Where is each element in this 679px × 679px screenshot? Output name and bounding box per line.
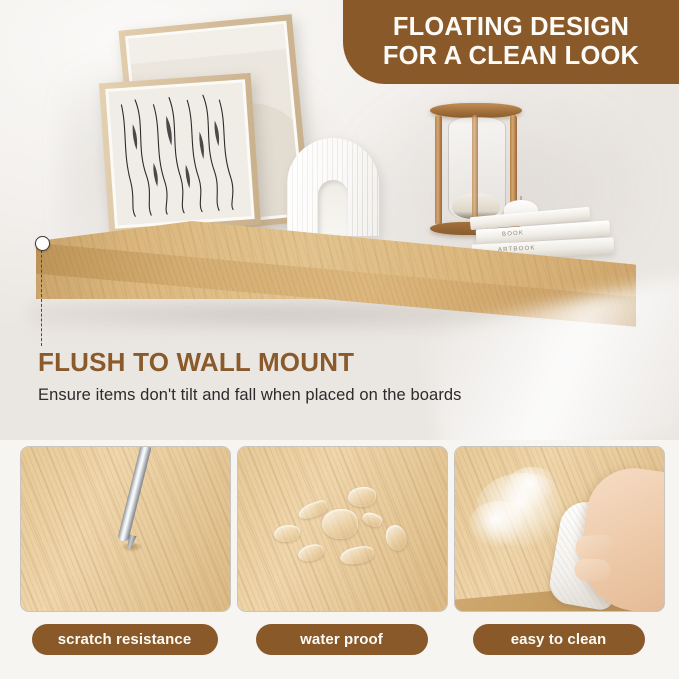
- feature-image-water-droplets-on-wood: [237, 446, 448, 612]
- feature-water-proof: water proof: [237, 446, 446, 655]
- feature-scratch-resistance: scratch resistance: [20, 446, 229, 655]
- feature-badge-water-proof: water proof: [256, 624, 428, 655]
- banner-title: FLOATING DESIGN FOR A CLEAN LOOK: [373, 13, 649, 70]
- callout-dashed-line: [41, 250, 42, 346]
- floating-design-banner: FLOATING DESIGN FOR A CLEAN LOOK: [343, 0, 679, 84]
- feature-panel-row: scratch resistance water proof: [0, 446, 679, 679]
- hourglass-post: [435, 115, 442, 225]
- powder-residue: [505, 467, 559, 507]
- hero-text-block: FLUSH TO WALL MOUNT Ensure items don't t…: [38, 348, 638, 405]
- product-infographic: BOOK ARTBOOK FLUSH TO WALL MOUNT Ensure …: [0, 0, 679, 679]
- powder-residue: [469, 501, 529, 547]
- headline: FLUSH TO WALL MOUNT: [38, 348, 638, 377]
- feature-badge-easy-to-clean: easy to clean: [473, 624, 645, 655]
- finger: [574, 558, 611, 581]
- hourglass-post: [472, 115, 478, 225]
- feature-easy-to-clean: easy to clean: [454, 446, 663, 655]
- finger: [575, 534, 617, 561]
- water-droplet: [322, 509, 358, 539]
- line-art-artwork: [108, 82, 251, 225]
- flush-mount-marker-icon: [35, 236, 50, 251]
- feature-image-screwdriver-on-wood: [20, 446, 231, 612]
- subheadline: Ensure items don't tilt and fall when pl…: [38, 385, 638, 406]
- water-droplet: [348, 487, 376, 507]
- picture-frame-front: [99, 73, 261, 235]
- feature-image-hand-wiping-powder-off-wood: [454, 446, 665, 612]
- feature-badge-scratch-resistance: scratch resistance: [32, 624, 218, 655]
